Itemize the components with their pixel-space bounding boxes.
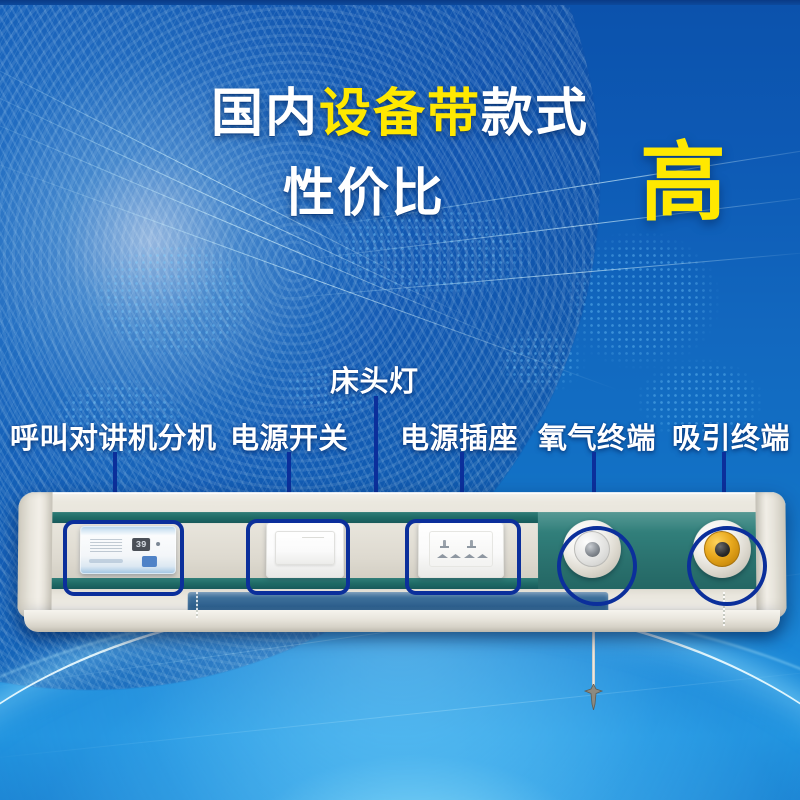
callout-label-power-switch: 电源开关 <box>230 415 348 457</box>
callout-label-nurse-call-intercom: 呼叫对讲机分机 <box>10 415 217 457</box>
callout-label-power-socket: 电源插座 <box>400 415 518 457</box>
headline-part-3: 款式 <box>481 85 589 143</box>
top-edge-bar <box>0 0 800 5</box>
headline-part-2: 设备带 <box>319 85 481 143</box>
panel-end-cap-left <box>17 492 52 618</box>
callout-label-bed-lamp: 床头灯 <box>330 358 419 400</box>
pull-cord-handle-icon[interactable] <box>583 684 604 710</box>
highlight-box-nurse-call-intercom <box>63 520 184 596</box>
highlight-box-power-switch <box>246 519 350 595</box>
banner-canvas: 国内设备带款式 性价比 高 呼叫对讲机分机 电源开关 床头灯 电源插座 氧气终端… <box>0 0 800 800</box>
headline-line-1: 国内设备带款式 <box>0 88 800 140</box>
highlight-circle-suction-terminal <box>687 526 767 606</box>
highlight-box-power-socket <box>405 519 521 595</box>
headline-line-2-text: 性价比 <box>283 165 445 223</box>
panel-seam-left <box>196 592 198 618</box>
highlight-circle-oxygen-terminal <box>557 526 637 606</box>
cross-handle-icon <box>583 684 604 710</box>
panel-lower-lip <box>24 610 780 632</box>
callout-label-suction-terminal: 吸引终端 <box>672 415 790 457</box>
headline-part-1: 国内 <box>211 85 319 143</box>
headline-emphasis-gao: 高 <box>640 140 726 226</box>
callout-label-oxygen-terminal: 氧气终端 <box>538 415 656 457</box>
